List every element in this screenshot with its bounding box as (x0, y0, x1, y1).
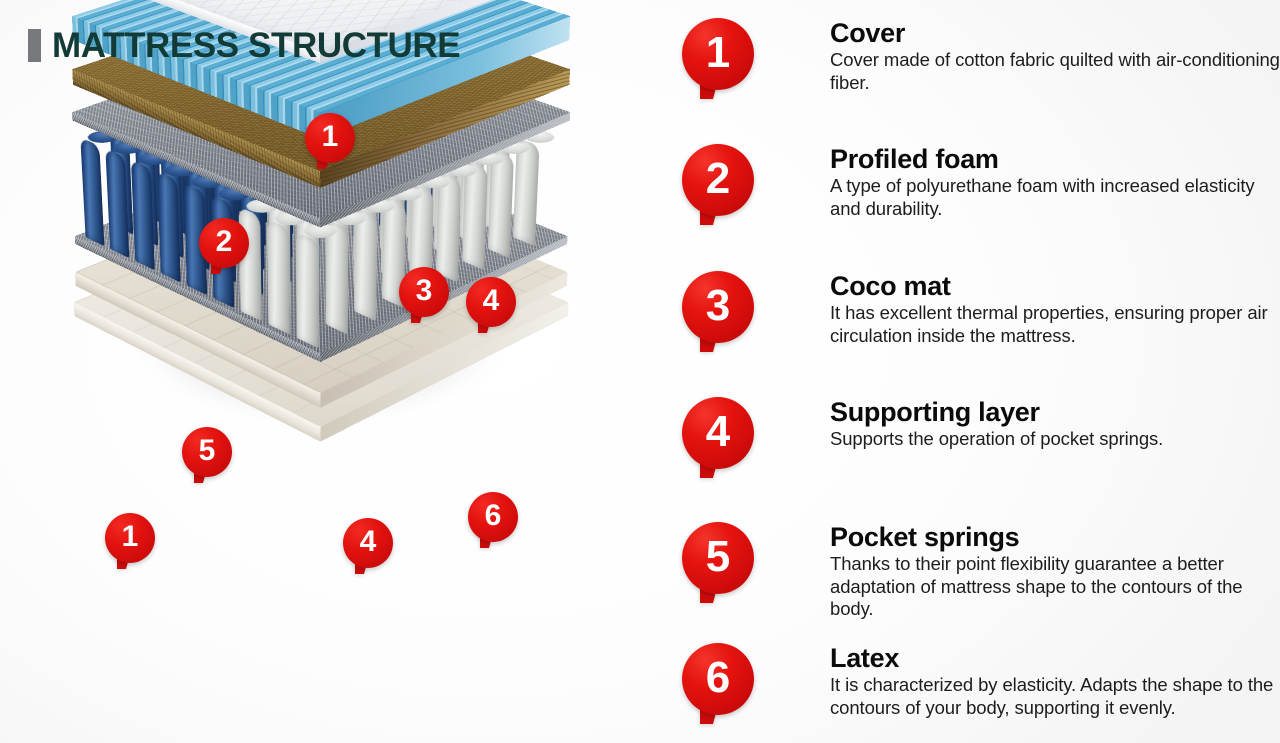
mattress-illustration: 12345146 (0, 0, 660, 743)
legend-body: Supports the operation of pocket springs… (830, 428, 1280, 451)
illustration-marker-4[interactable]: 4 (343, 518, 393, 568)
legend-text-block: Profiled foamA type of polyurethane foam… (830, 144, 1280, 220)
legend-number: 2 (682, 144, 754, 216)
legend-number: 5 (682, 522, 754, 594)
legend-text-block: CoverCover made of cotton fabric quilted… (830, 18, 1280, 94)
marker-number: 6 (468, 492, 518, 542)
legend-pin-6[interactable]: 6 (682, 643, 754, 715)
infographic-page: MATTRESS STRUCTURE (0, 0, 1280, 743)
legend-marker: 3 (682, 271, 754, 343)
legend-pin-1[interactable]: 1 (682, 18, 754, 90)
title-bullet-icon (28, 29, 41, 62)
legend-heading: Coco mat (830, 271, 1280, 301)
legend-text-block: Supporting layerSupports the operation o… (830, 397, 1280, 451)
legend-pin-3[interactable]: 3 (682, 271, 754, 343)
illustration-marker-4[interactable]: 4 (466, 277, 516, 327)
spring-body (157, 171, 181, 283)
legend-heading: Pocket springs (830, 522, 1280, 552)
page-title-text: MATTRESS STRUCTURE (52, 28, 460, 63)
legend-marker: 4 (682, 397, 754, 469)
illustration-marker-3[interactable]: 3 (399, 267, 449, 317)
illustration-marker-6[interactable]: 6 (468, 492, 518, 542)
legend-body: It is characterized by elasticity. Adapt… (830, 674, 1280, 719)
legend-marker: 5 (682, 522, 754, 594)
illustration-marker-5[interactable]: 5 (182, 427, 232, 477)
legend-pin-4[interactable]: 4 (682, 397, 754, 469)
legend-body: A type of polyurethane foam with increas… (830, 175, 1280, 220)
legend-body: Cover made of cotton fabric quilted with… (830, 49, 1280, 94)
mattress-stack (0, 199, 704, 564)
legend-marker: 2 (682, 144, 754, 216)
legend-marker: 1 (682, 18, 754, 90)
spring-body (80, 137, 104, 246)
legend-heading: Profiled foam (830, 144, 1280, 174)
legend-number: 4 (682, 397, 754, 469)
marker-number: 4 (466, 277, 516, 327)
marker-number: 5 (182, 427, 232, 477)
legend-heading: Supporting layer (830, 397, 1280, 427)
legend-text-block: Coco matIt has excellent thermal propert… (830, 271, 1280, 347)
legend-body: Thanks to their point flexibility guaran… (830, 553, 1280, 621)
legend-list: 1CoverCover made of cotton fabric quilte… (660, 0, 1280, 743)
spring-body (296, 232, 319, 349)
legend-text-block: LatexIt is characterized by elasticity. … (830, 643, 1280, 719)
legend-heading: Latex (830, 643, 1280, 673)
legend-number: 6 (682, 643, 754, 715)
legend-pin-5[interactable]: 5 (682, 522, 754, 594)
marker-number: 4 (343, 518, 393, 568)
spring-body (267, 219, 290, 335)
page-title: MATTRESS STRUCTURE (28, 28, 460, 63)
marker-number: 1 (105, 513, 155, 563)
marker-number: 3 (399, 267, 449, 317)
legend-text-block: Pocket springsThanks to their point flex… (830, 522, 1280, 621)
marker-number: 1 (305, 113, 355, 163)
legend-body: It has excellent thermal properties, ens… (830, 302, 1280, 347)
marker-number: 2 (199, 218, 249, 268)
legend-heading: Cover (830, 18, 1280, 48)
illustration-marker-2[interactable]: 2 (199, 218, 249, 268)
legend-marker: 6 (682, 643, 754, 715)
legend-pin-2[interactable]: 2 (682, 144, 754, 216)
illustration-marker-1[interactable]: 1 (305, 113, 355, 163)
illustration-marker-1[interactable]: 1 (105, 513, 155, 563)
legend-number: 3 (682, 271, 754, 343)
legend-number: 1 (682, 18, 754, 90)
